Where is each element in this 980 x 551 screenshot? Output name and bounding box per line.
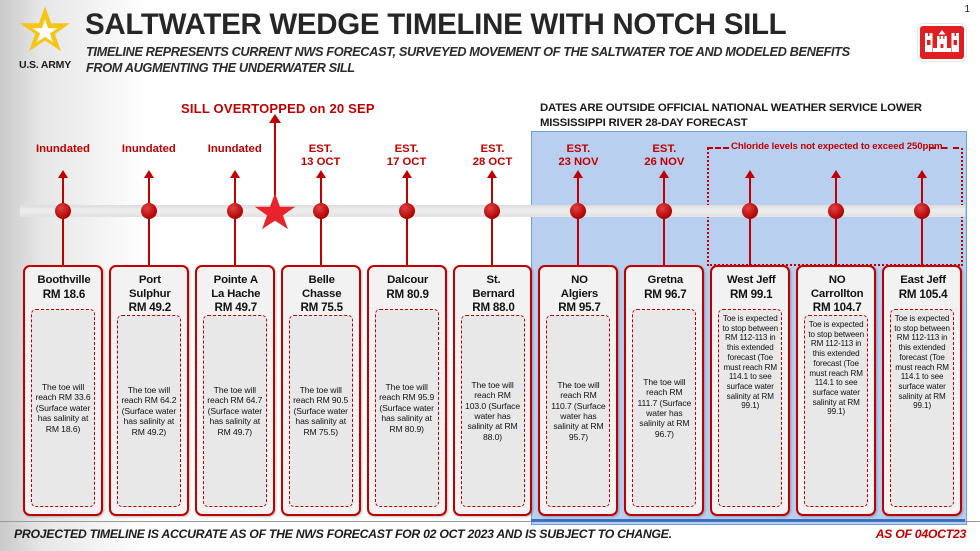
station-leader-line <box>921 177 923 277</box>
station-detail-box: The toe will reach RM 64.2 (Surface wate… <box>117 315 181 507</box>
station-date-label: Inundated <box>106 143 192 156</box>
station-column: EST. 13 OCTBelle ChasseRM 75.5The toe wi… <box>278 0 364 551</box>
station-detail-text: The toe will reach RM 90.5 (Surface wate… <box>292 385 350 437</box>
station-name: East JeffRM 105.4 <box>886 274 960 301</box>
station-name: St. BernardRM 88.0 <box>457 274 531 315</box>
station-river-mile: RM 105.4 <box>886 288 960 302</box>
station-leader-line <box>406 177 408 277</box>
station-detail-text: The toe will reach RM 33.6 (Surface wate… <box>34 382 92 434</box>
station-date-label: Inundated <box>20 143 106 156</box>
station-card[interactable]: GretnaRM 96.7The toe will reach RM 111.7… <box>624 265 704 516</box>
station-name: BoothvilleRM 18.6 <box>27 274 101 301</box>
station-date-label: EST. 17 OCT <box>364 143 450 169</box>
station-date-label: EST. 28 OCT <box>450 143 536 169</box>
station-card[interactable]: Pointe A La HacheRM 49.7The toe will rea… <box>195 265 275 516</box>
station-card[interactable]: Port SulphurRM 49.2The toe will reach RM… <box>109 265 189 516</box>
station-column: EST. 23 NOVNO AlgiersRM 95.7The toe will… <box>535 0 621 551</box>
station-detail-box: The toe will reach RM 95.9 (Surface wate… <box>375 309 439 507</box>
station-river-mile: RM 99.1 <box>714 288 788 302</box>
station-column: InundatedBoothvilleRM 18.6The toe will r… <box>20 0 106 551</box>
timeline-marker-dot <box>828 203 844 219</box>
slide-canvas: U.S. ARMY SALTWATER WEDGE TIMELINE WITH … <box>0 0 980 551</box>
station-river-mile: RM 96.7 <box>628 288 702 302</box>
station-name: Port SulphurRM 49.2 <box>113 274 187 315</box>
timeline-marker-dot <box>227 203 243 219</box>
station-columns: InundatedBoothvilleRM 18.6The toe will r… <box>0 0 980 551</box>
station-detail-box: The toe will reach RM 103.0 (Surface wat… <box>461 315 525 507</box>
station-name: Pointe A La HacheRM 49.7 <box>199 274 273 315</box>
station-date-label: EST. 23 NOV <box>535 143 621 169</box>
station-leader-line <box>234 177 236 277</box>
station-detail-text: The toe will reach RM 64.7 (Surface wate… <box>206 385 264 437</box>
timeline-marker-dot <box>141 203 157 219</box>
footer-note: PROJECTED TIMELINE IS ACCURATE AS OF THE… <box>14 527 672 541</box>
station-card[interactable]: NO AlgiersRM 95.7The toe will reach RM 1… <box>538 265 618 516</box>
timeline-marker-dot <box>484 203 500 219</box>
station-detail-box: The toe will reach RM 90.5 (Surface wate… <box>289 315 353 507</box>
station-river-mile: RM 49.7 <box>199 301 273 315</box>
station-river-mile: RM 88.0 <box>457 301 531 315</box>
timeline-marker-dot <box>55 203 71 219</box>
station-card[interactable]: East JeffRM 105.4Toe is expected to stop… <box>882 265 962 516</box>
station-detail-box: The toe will reach RM 33.6 (Surface wate… <box>31 309 95 507</box>
station-name: GretnaRM 96.7 <box>628 274 702 301</box>
station-leader-line <box>835 177 837 277</box>
station-card[interactable]: Belle ChasseRM 75.5The toe will reach RM… <box>281 265 361 516</box>
station-column: West JeffRM 99.1Toe is expected to stop … <box>707 0 793 551</box>
timeline-marker-dot <box>914 203 930 219</box>
station-leader-line <box>663 177 665 277</box>
station-detail-text: Toe is expected to stop between RM 112-1… <box>807 320 865 417</box>
station-river-mile: RM 49.2 <box>113 301 187 315</box>
timeline-marker-dot <box>399 203 415 219</box>
station-name: NO CarrolltonRM 104.7 <box>800 274 874 315</box>
station-detail-box: The toe will reach RM 111.7 (Surface wat… <box>632 309 696 507</box>
station-card[interactable]: DalcourRM 80.9The toe will reach RM 95.9… <box>367 265 447 516</box>
station-date-label: Inundated <box>192 143 278 156</box>
station-leader-line <box>62 177 64 277</box>
station-leader-line <box>577 177 579 277</box>
station-column: InundatedPointe A La HacheRM 49.7The toe… <box>192 0 278 551</box>
station-column: East JeffRM 105.4Toe is expected to stop… <box>879 0 965 551</box>
station-detail-box: Toe is expected to stop between RM 112-1… <box>804 315 868 507</box>
station-detail-box: Toe is expected to stop between RM 112-1… <box>718 309 782 507</box>
timeline-marker-dot <box>313 203 329 219</box>
station-detail-text: Toe is expected to stop between RM 112-1… <box>721 314 779 411</box>
station-name: NO AlgiersRM 95.7 <box>542 274 616 315</box>
station-column: EST. 26 NOVGretnaRM 96.7The toe will rea… <box>621 0 707 551</box>
station-card[interactable]: BoothvilleRM 18.6The toe will reach RM 3… <box>23 265 103 516</box>
station-leader-line <box>320 177 322 277</box>
station-river-mile: RM 18.6 <box>27 288 101 302</box>
station-column: NO CarrolltonRM 104.7Toe is expected to … <box>793 0 879 551</box>
station-card[interactable]: West JeffRM 99.1Toe is expected to stop … <box>710 265 790 516</box>
station-leader-line <box>491 177 493 277</box>
station-detail-text: The toe will reach RM 103.0 (Surface wat… <box>464 380 522 442</box>
station-detail-text: The toe will reach RM 64.2 (Surface wate… <box>120 385 178 437</box>
station-river-mile: RM 80.9 <box>371 288 445 302</box>
station-detail-box: The toe will reach RM 110.7 (Surface wat… <box>546 315 610 507</box>
station-river-mile: RM 75.5 <box>285 301 359 315</box>
timeline-marker-dot <box>742 203 758 219</box>
station-river-mile: RM 95.7 <box>542 301 616 315</box>
station-detail-box: The toe will reach RM 64.7 (Surface wate… <box>203 315 267 507</box>
station-leader-line <box>749 177 751 277</box>
station-date-label: EST. 26 NOV <box>621 143 707 169</box>
station-detail-text: The toe will reach RM 95.9 (Surface wate… <box>378 382 436 434</box>
station-detail-box: Toe is expected to stop between RM 112-1… <box>890 309 954 507</box>
station-name: DalcourRM 80.9 <box>371 274 445 301</box>
station-river-mile: RM 104.7 <box>800 301 874 315</box>
station-detail-text: The toe will reach RM 110.7 (Surface wat… <box>549 380 607 442</box>
station-name: Belle ChasseRM 75.5 <box>285 274 359 315</box>
footer-panel-edge <box>531 519 965 522</box>
footer-as-of: AS OF 04OCT23 <box>876 527 966 541</box>
station-detail-text: The toe will reach RM 111.7 (Surface wat… <box>635 377 693 439</box>
station-card[interactable]: NO CarrolltonRM 104.7Toe is expected to … <box>796 265 876 516</box>
station-column: EST. 17 OCTDalcourRM 80.9The toe will re… <box>364 0 450 551</box>
station-name: West JeffRM 99.1 <box>714 274 788 301</box>
station-date-label: EST. 13 OCT <box>278 143 364 169</box>
station-card[interactable]: St. BernardRM 88.0The toe will reach RM … <box>453 265 533 516</box>
timeline-marker-dot <box>570 203 586 219</box>
station-column: EST. 28 OCTSt. BernardRM 88.0The toe wil… <box>450 0 536 551</box>
timeline-marker-dot <box>656 203 672 219</box>
station-detail-text: Toe is expected to stop between RM 112-1… <box>893 314 951 411</box>
station-column: InundatedPort SulphurRM 49.2The toe will… <box>106 0 192 551</box>
station-leader-line <box>148 177 150 277</box>
